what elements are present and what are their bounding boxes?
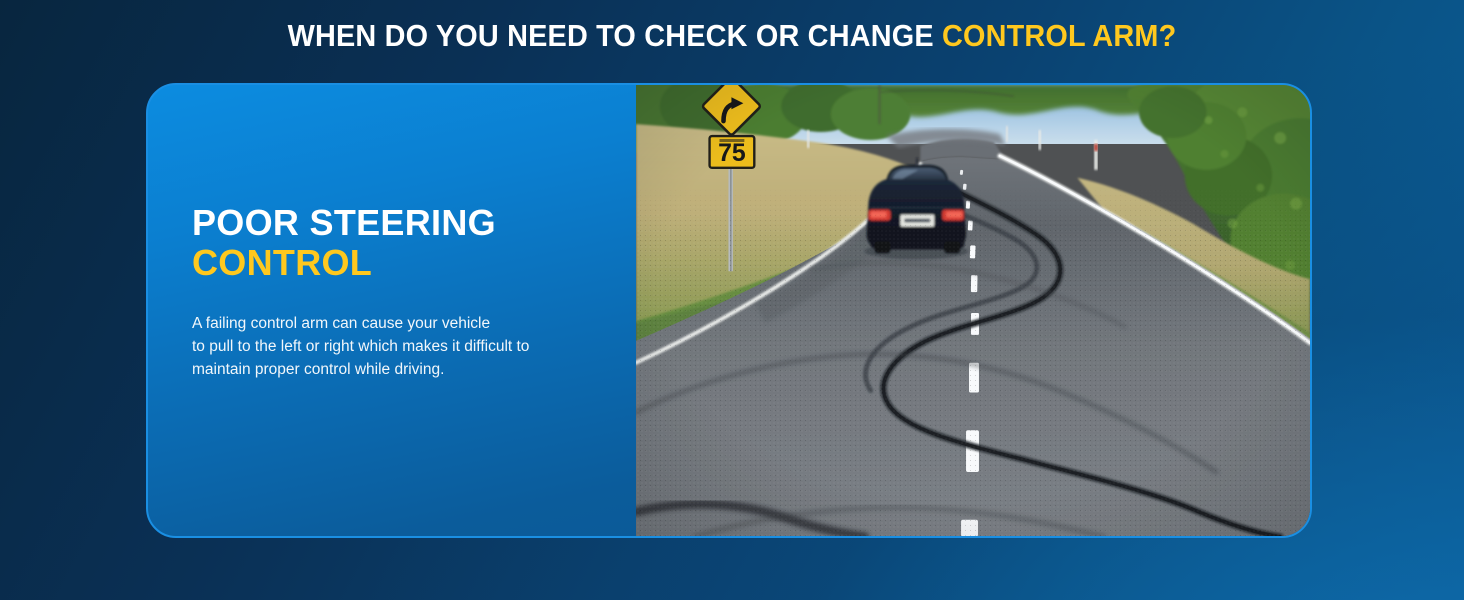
card-heading-line-2: CONTROL [192, 243, 602, 283]
card-body-line-1: A failing control arm can cause your veh… [192, 312, 602, 335]
infographic-canvas: WHEN DO YOU NEED TO CHECK OR CHANGE CONT… [0, 0, 1464, 600]
feature-card: POOR STEERING CONTROL A failing control … [146, 83, 1312, 538]
road-photo-illustration: 75 [636, 85, 1310, 536]
card-text-panel: POOR STEERING CONTROL A failing control … [148, 85, 636, 536]
card-body-text: A failing control arm can cause your veh… [192, 312, 602, 381]
card-body-line-3: maintain proper control while driving. [192, 358, 602, 381]
page-title-accent: CONTROL ARM? [942, 18, 1176, 53]
card-heading: POOR STEERING CONTROL [192, 203, 602, 283]
card-body-line-2: to pull to the left or right which makes… [192, 335, 602, 358]
road-photo: 75 [636, 85, 1310, 536]
page-title-main: WHEN DO YOU NEED TO CHECK OR CHANGE [288, 18, 942, 53]
card-heading-line-1: POOR STEERING [192, 202, 496, 243]
page-title: WHEN DO YOU NEED TO CHECK OR CHANGE CONT… [51, 17, 1413, 55]
